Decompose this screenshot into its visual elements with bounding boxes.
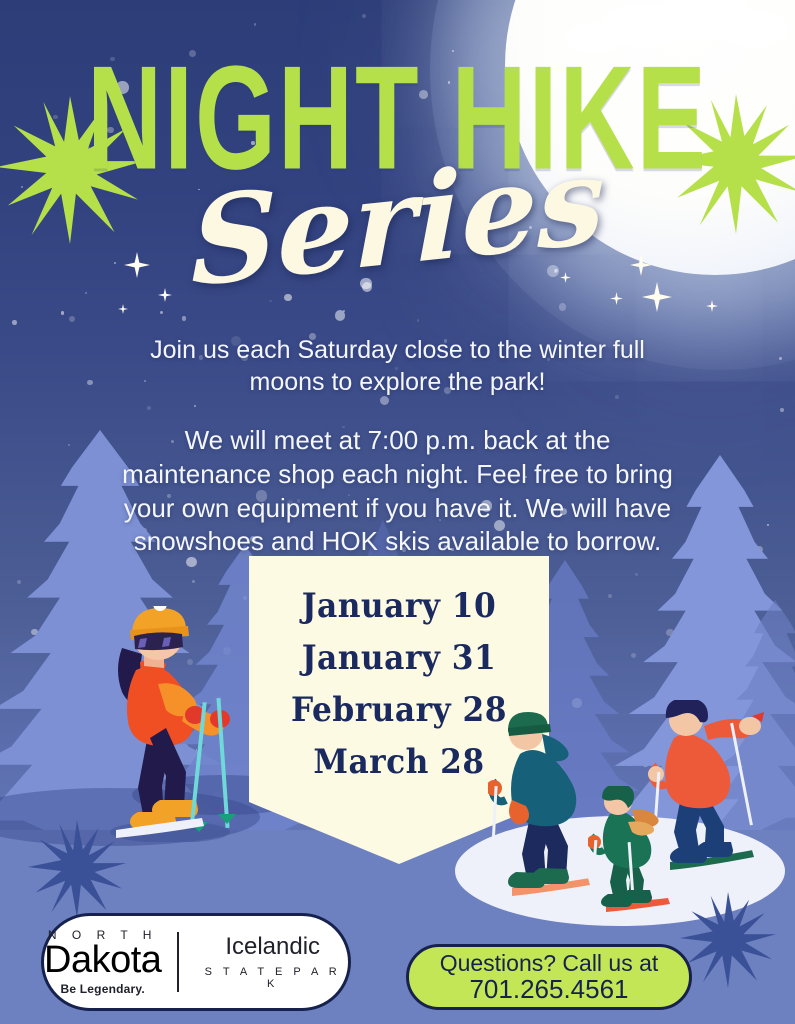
north-dakota-logo: N O R T H Dakota Be Legendary. <box>44 928 177 996</box>
details-line-4: snowshoes and HOK skis available to borr… <box>52 525 743 559</box>
snowflake <box>12 320 17 325</box>
skier-figure-left <box>92 606 252 842</box>
details-line-1: We will meet at 7:00 p.m. back at the <box>52 424 743 458</box>
poster-canvas: NIGHT HIKE Series Join us each Saturday … <box>0 0 795 1024</box>
details-paragraph: We will meet at 7:00 p.m. back at the ma… <box>0 424 795 559</box>
snowflake <box>160 311 163 314</box>
details-line-2: maintenance shop each night. Feel free t… <box>52 458 743 492</box>
intro-line-2: moons to explore the park! <box>0 366 795 398</box>
sparkle-star <box>610 292 623 305</box>
snowflake <box>780 408 784 412</box>
snowflake <box>194 405 196 407</box>
park-type-text: S T A T E P A R K <box>197 966 348 990</box>
snowflake <box>85 292 88 295</box>
snowflake <box>269 300 271 302</box>
date-item: January 10 <box>261 580 537 632</box>
snowflake <box>343 310 345 312</box>
cloud-shape <box>718 10 788 48</box>
snowflake <box>559 303 566 310</box>
logo-tagline: Be Legendary. <box>44 982 161 996</box>
details-line-3: your own equipment if you have it. We wi… <box>52 492 743 526</box>
snowflake <box>254 23 257 26</box>
nd-state-park-logo: N O R T H Dakota Be Legendary. Icelandic… <box>41 913 351 1011</box>
title-main-text: NIGHT HIKE <box>87 52 708 188</box>
park-name-text: Icelandic <box>197 934 348 959</box>
sparkle-star <box>124 252 150 278</box>
sparkle-star <box>642 282 672 312</box>
snowflake <box>182 316 187 321</box>
contact-pill[interactable]: Questions? Call us at 701.265.4561 <box>406 944 692 1010</box>
sparkle-star <box>118 304 128 314</box>
skier-figure-child <box>588 786 698 914</box>
sparkle-star <box>158 288 172 302</box>
snowflake <box>435 227 437 229</box>
poster-title: NIGHT HIKE <box>0 52 795 148</box>
snowflake <box>61 311 65 315</box>
snowflake <box>617 3 621 7</box>
snowflake <box>147 406 151 410</box>
snowflake <box>529 226 532 229</box>
snowflake <box>284 294 292 302</box>
snowflake <box>568 14 570 16</box>
snowflake <box>360 278 372 290</box>
date-item: January 31 <box>261 632 537 684</box>
sparkle-star <box>706 300 718 312</box>
snowflake <box>475 238 479 242</box>
snowflake <box>114 262 116 264</box>
logo-dakota-text: Dakota <box>44 943 161 979</box>
snowflake <box>531 15 535 19</box>
intro-line-1: Join us each Saturday close to the winte… <box>0 334 795 366</box>
snowflake <box>69 316 75 322</box>
sparkle-star <box>560 272 571 283</box>
contact-question-text: Questions? Call us at <box>440 951 659 976</box>
snowflake <box>612 28 615 31</box>
snowflake <box>362 14 366 18</box>
intro-paragraph: Join us each Saturday close to the winte… <box>0 334 795 398</box>
snowflake <box>547 265 559 277</box>
park-name-block: Icelandic S T A T E P A R K <box>179 934 348 989</box>
snowflake <box>417 319 420 322</box>
contact-phone-number: 701.265.4561 <box>469 975 628 1003</box>
